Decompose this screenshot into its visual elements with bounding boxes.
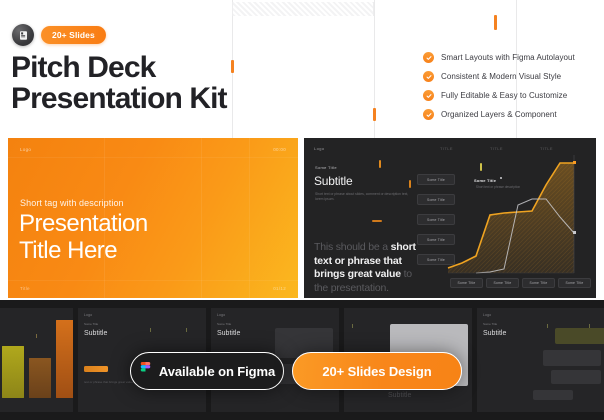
- slide-eyebrow: Some Title: [315, 165, 337, 170]
- slide-bottom-left-label: Title: [20, 286, 30, 291]
- slide-grid-line: [8, 280, 298, 281]
- slide-preview-dark[interactable]: Logo TITLE TITLE TITLE Some Title Subtit…: [304, 138, 596, 298]
- thumb-eyebrow: Some Title: [217, 322, 231, 326]
- slides-count-badge: 20+ Slides: [41, 26, 106, 44]
- slide-logo-label: Logo: [20, 147, 31, 152]
- figma-app-icon: [12, 24, 34, 46]
- feature-item: Fully Editable & Easy to Customize: [423, 86, 603, 105]
- chart-dot-marker: [500, 177, 502, 179]
- check-circle-icon: [423, 109, 434, 120]
- slide-headline-block: This should be a short text or phrase th…: [314, 241, 422, 295]
- slides-design-label: 20+ Slides Design: [322, 364, 431, 379]
- feature-item: Consistent & Modern Visual Style: [423, 67, 603, 86]
- check-circle-icon: [423, 71, 434, 82]
- guide-line: [374, 0, 375, 140]
- feature-item: Organized Layers & Component: [423, 105, 603, 124]
- slide-bottom-button[interactable]: Some Title: [558, 278, 591, 288]
- area-series-a-hatch: [448, 163, 574, 273]
- feature-label: Organized Layers & Component: [441, 110, 557, 119]
- accent-tick: [373, 108, 376, 121]
- accent-tick: [379, 160, 381, 168]
- chart-endpoint-marker-b: [573, 231, 576, 234]
- accent-tick: [150, 328, 151, 332]
- slide-nav-item[interactable]: TITLE: [440, 146, 453, 151]
- feature-list: Smart Layouts with Figma Autolayout Cons…: [423, 48, 603, 124]
- slide-title: Presentation Title Here: [19, 210, 279, 264]
- slide-bottom-button[interactable]: Some Title: [522, 278, 555, 288]
- thumb-logo-label: Logo: [483, 313, 491, 317]
- feature-label: Consistent & Modern Visual Style: [441, 72, 561, 81]
- check-circle-icon: [423, 90, 434, 101]
- thumb-eyebrow: Some Title: [84, 322, 98, 326]
- available-on-figma-label: Available on Figma: [159, 364, 275, 379]
- thumb-subtitle: Subtitle: [388, 392, 411, 399]
- slide-nav-item[interactable]: TITLE: [540, 146, 553, 151]
- figma-logo-icon: [139, 362, 152, 381]
- accent-tick: [186, 328, 187, 332]
- chart-endpoint-marker-a: [573, 161, 576, 164]
- thumb-subtitle: Subtitle: [217, 330, 240, 337]
- slides-design-button[interactable]: 20+ Slides Design: [292, 352, 462, 390]
- slide-page-number: 01/12: [273, 286, 286, 291]
- hatched-placeholder: [232, 2, 374, 16]
- thumb-logo-label: Logo: [217, 313, 225, 317]
- thumb-logo-label: Logo: [84, 313, 92, 317]
- slide-preview-orange[interactable]: Logo 00:00 Title 01/12 Short tag with de…: [8, 138, 298, 298]
- check-circle-icon: [423, 52, 434, 63]
- thumb-card: [555, 328, 604, 344]
- page-title-line2: Presentation Kit: [11, 83, 281, 114]
- feature-item: Smart Layouts with Figma Autolayout: [423, 48, 603, 67]
- thumb-subtitle: Subtitle: [84, 330, 107, 337]
- thumb-eyebrow: Some Title: [483, 322, 497, 326]
- feature-label: Smart Layouts with Figma Autolayout: [441, 53, 575, 62]
- slide-title-line1: Presentation: [19, 210, 279, 237]
- badge-row: 20+ Slides: [12, 24, 106, 46]
- accent-tick: [589, 324, 590, 328]
- accent-tick: [409, 180, 411, 188]
- slide-title-line2: Title Here: [19, 237, 279, 264]
- slide-previews: Logo 00:00 Title 01/12 Short tag with de…: [0, 137, 604, 300]
- slide-top-right-label: 00:00: [273, 147, 286, 152]
- thumb-subtitle: Subtitle: [483, 330, 506, 337]
- feature-label: Fully Editable & Easy to Customize: [441, 91, 567, 100]
- slide-bottom-button[interactable]: Some Title: [450, 278, 483, 288]
- chart-sublabel: Short text or phrase description: [470, 185, 526, 190]
- available-on-figma-button[interactable]: Available on Figma: [130, 352, 284, 390]
- slide-bottom-button[interactable]: Some Title: [486, 278, 519, 288]
- headline-pre: This should be a: [314, 241, 391, 253]
- accent-tick: [36, 334, 37, 338]
- slide-subtitle: Subtitle: [314, 174, 352, 188]
- slide-area-chart: [442, 155, 587, 280]
- accent-tick: [547, 324, 548, 328]
- slide-nav-item[interactable]: TITLE: [490, 146, 503, 151]
- slide-logo-label: Logo: [314, 146, 325, 151]
- page-title-line1: Pitch Deck: [11, 51, 155, 84]
- slide-tagline: Short tag with description: [20, 198, 124, 208]
- slide-grid-line: [8, 157, 298, 158]
- accent-tick: [494, 15, 497, 30]
- accent-tick: [352, 324, 353, 328]
- slide-paragraph: Short text or phrase about slides, comme…: [315, 192, 411, 203]
- cta-row: Available on Figma 20+ Slides Design: [0, 352, 604, 392]
- chart-label: Some Title: [474, 178, 496, 183]
- accent-dash: [372, 220, 382, 222]
- page-title: Pitch Deck Presentation Kit: [11, 52, 281, 114]
